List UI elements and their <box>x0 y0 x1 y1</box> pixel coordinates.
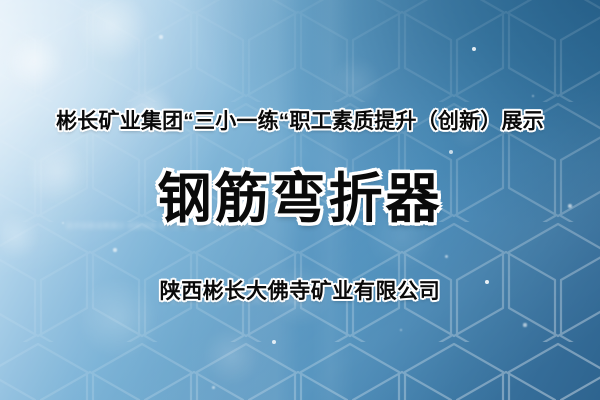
headline-stack: 彬长矿业集团“三小一练“职工素质提升（创新）展示 钢筋弯折器 陕西彬长大佛寺矿业… <box>0 0 600 400</box>
title-card-slide: 技术创新成果展示 创新创效 降本增效 职工技术创新成果 Engineering … <box>0 0 600 400</box>
slide-company-name: 陕西彬长大佛寺矿业有限公司 <box>0 278 600 306</box>
slide-subtitle: 彬长矿业集团“三小一练“职工素质提升（创新）展示 <box>0 108 600 136</box>
slide-main-title: 钢筋弯折器 <box>0 166 600 232</box>
